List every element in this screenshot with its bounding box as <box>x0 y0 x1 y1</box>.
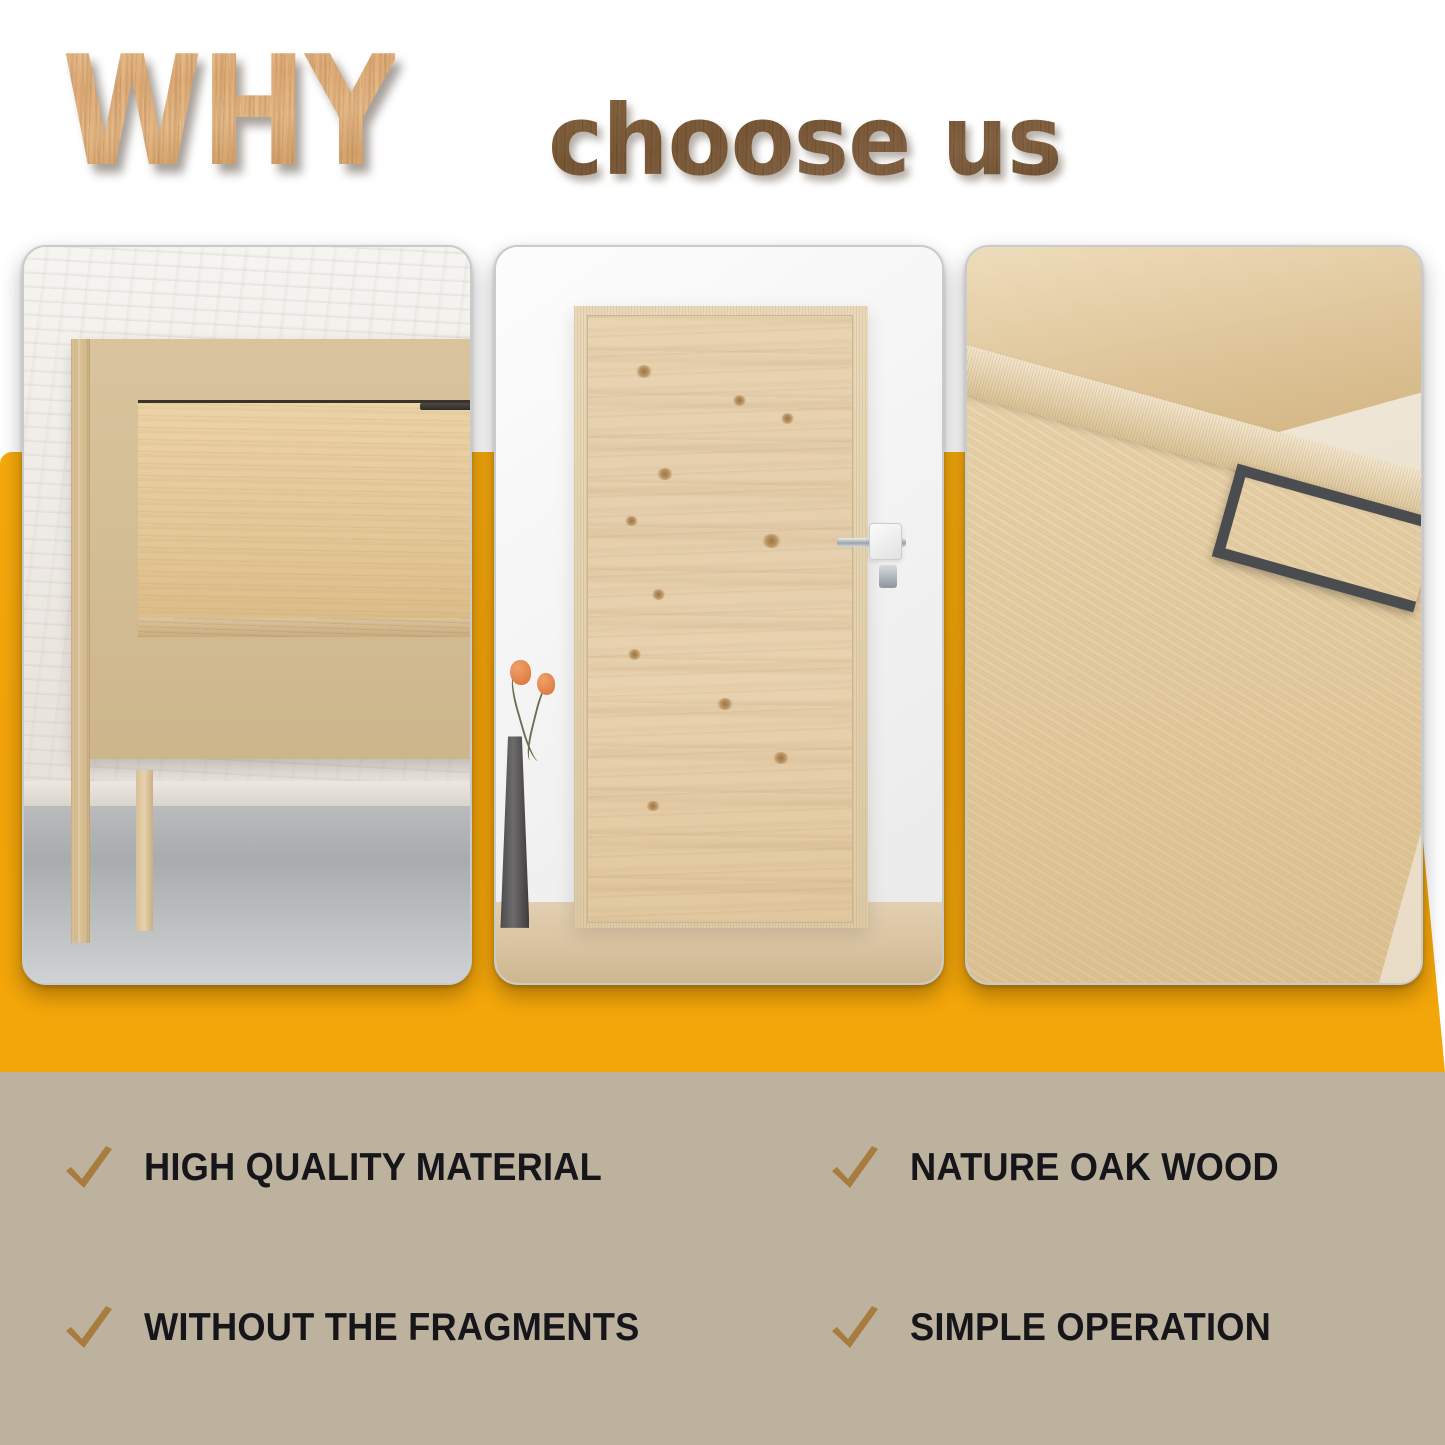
cabinet-leg <box>136 770 154 932</box>
product-image-gallery <box>0 0 1445 1000</box>
wood-knot <box>733 395 746 406</box>
cabinet-carcass <box>73 339 470 759</box>
gallery-card-oak-door[interactable] <box>494 245 944 985</box>
feature-label: HIGH QUALITY MATERIAL <box>144 1146 602 1190</box>
light-switch <box>869 523 902 560</box>
check-icon <box>62 1140 118 1196</box>
check-icon <box>62 1300 118 1356</box>
cabinet-door-panel <box>138 400 470 620</box>
feature-label: SIMPLE OPERATION <box>910 1306 1271 1350</box>
wood-knot <box>717 698 733 710</box>
dried-flower-bloom <box>537 673 555 694</box>
check-icon <box>828 1300 884 1356</box>
wood-knot <box>657 468 673 480</box>
cabinet-bar-handle <box>420 403 470 410</box>
grey-floor <box>24 806 470 983</box>
gallery-card-oak-edge-closeup[interactable] <box>965 245 1423 985</box>
check-icon <box>828 1140 884 1196</box>
wood-knot <box>652 589 665 600</box>
oak-door-leaf <box>587 315 852 922</box>
oak-interior-door-photo <box>496 247 942 983</box>
oak-edge-handle-closeup-photo <box>967 247 1421 983</box>
door-lock-escutcheon <box>879 565 898 588</box>
gallery-card-oak-sideboard[interactable] <box>22 245 472 985</box>
feature-item: SIMPLE OPERATION <box>828 1300 1298 1356</box>
feature-list: HIGH QUALITY MATERIAL NATURE OAK WOOD WI… <box>0 1072 1445 1445</box>
cabinet-left-post <box>71 339 90 943</box>
wood-knot <box>628 649 641 659</box>
wood-knot <box>625 516 638 526</box>
oak-sideboard-photo <box>24 247 470 983</box>
wood-knot <box>773 752 789 764</box>
wood-knot <box>781 413 794 424</box>
feature-label: NATURE OAK WOOD <box>910 1146 1279 1190</box>
why-choose-us-infographic: WHY choose us <box>0 0 1445 1445</box>
cabinet-bottom-rail <box>138 618 470 637</box>
dried-flower-bloom <box>510 660 531 685</box>
wood-knot <box>762 534 780 548</box>
feature-item: WITHOUT THE FRAGMENTS <box>62 1300 677 1356</box>
feature-label: WITHOUT THE FRAGMENTS <box>144 1306 640 1350</box>
feature-item: HIGH QUALITY MATERIAL <box>62 1140 636 1196</box>
feature-item: NATURE OAK WOOD <box>828 1140 1307 1196</box>
wood-knot <box>636 365 652 378</box>
wood-knot <box>646 801 659 811</box>
